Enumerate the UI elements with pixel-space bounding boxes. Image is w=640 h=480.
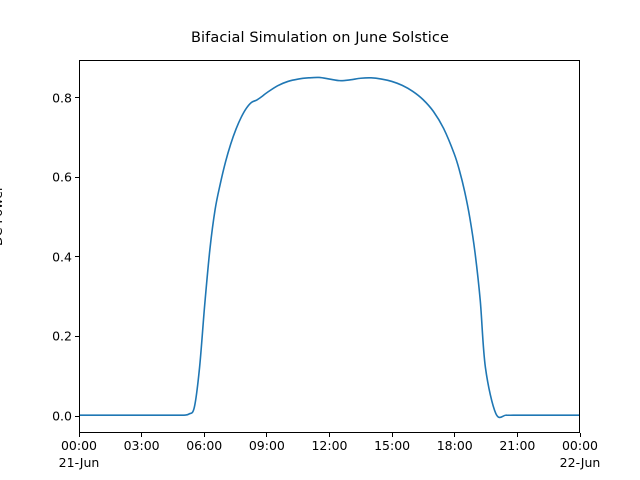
x-tick-label: 03:00 <box>124 438 160 453</box>
dc-power-line-series <box>80 61 579 432</box>
series-path-dc-power <box>80 77 579 417</box>
x-tick-label: 00:00 <box>562 438 598 453</box>
x-tick-date-label: 22-Jun <box>560 455 601 470</box>
x-tick-mark <box>329 433 330 437</box>
x-tick-mark <box>266 433 267 437</box>
x-tick-mark <box>141 433 142 437</box>
x-tick-label: 06:00 <box>186 438 222 453</box>
x-tick-label: 21:00 <box>499 438 535 453</box>
x-tick-mark <box>79 433 80 437</box>
x-tick-label: 09:00 <box>249 438 285 453</box>
x-tick-date-label: 21-Jun <box>59 455 100 470</box>
x-tick-label: 15:00 <box>374 438 410 453</box>
x-tick-mark <box>580 433 581 437</box>
x-tick-label: 00:00 <box>61 438 97 453</box>
x-tick-label: 12:00 <box>311 438 347 453</box>
x-tick-label: 18:00 <box>437 438 473 453</box>
x-tick-mark <box>204 433 205 437</box>
x-tick-mark <box>392 433 393 437</box>
x-tick-mark <box>454 433 455 437</box>
plot-area <box>79 60 580 433</box>
matplotlib-figure: Bifacial Simulation on June Solstice DC … <box>0 0 640 480</box>
x-tick-mark <box>517 433 518 437</box>
